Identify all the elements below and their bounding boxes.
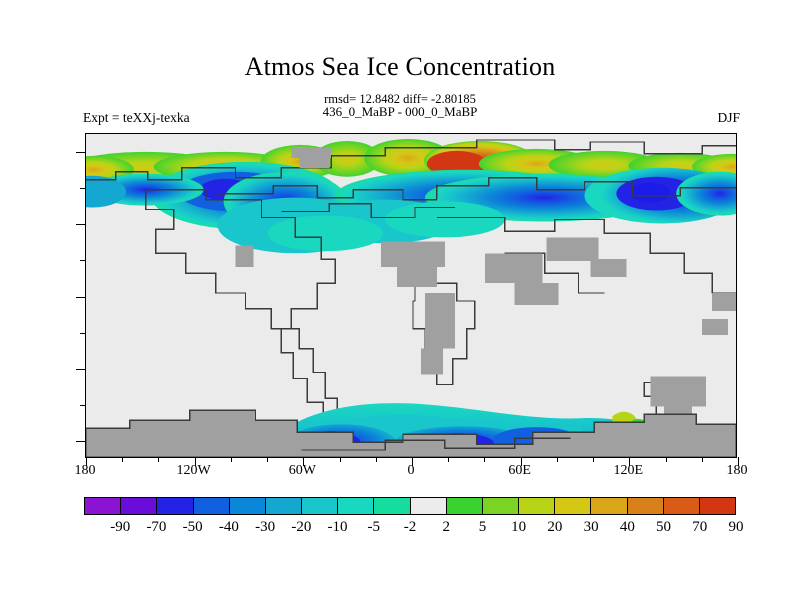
y-axis-tick (76, 441, 86, 442)
y-axis-minor-tick (80, 188, 86, 189)
colorbar-cell[interactable] (628, 498, 664, 514)
colorbar-cell[interactable] (411, 498, 447, 514)
x-axis-label: 60E (508, 463, 531, 479)
colorbar-tick-label: 40 (620, 519, 635, 536)
x-axis-minor-tick (593, 457, 594, 462)
colorbar-cell[interactable] (555, 498, 591, 514)
colorbar-tick-label: -20 (291, 519, 311, 536)
x-axis-minor-tick (267, 457, 268, 462)
x-axis-label: 120W (177, 463, 211, 479)
x-axis-label: 0 (408, 463, 415, 479)
colorbar-tick-label: -5 (368, 519, 381, 536)
colorbar-cell[interactable] (157, 498, 193, 514)
y-axis-minor-tick (80, 405, 86, 406)
y-axis-tick (76, 224, 86, 225)
colorbar-tick-label: -90 (110, 519, 130, 536)
x-axis-minor-tick (122, 457, 123, 462)
season-label: DJF (717, 110, 740, 126)
colorbar-tick-label: 90 (729, 519, 744, 536)
x-axis-minor-tick (340, 457, 341, 462)
colorbar-cell[interactable] (664, 498, 700, 514)
x-axis-minor-tick (484, 457, 485, 462)
colorbar-tick-label: 10 (511, 519, 526, 536)
colorbar-cell[interactable] (338, 498, 374, 514)
colorbar-tick-label: -40 (219, 519, 239, 536)
y-axis-tick (76, 297, 86, 298)
x-axis-label: 180 (727, 463, 748, 479)
colorbar-tick-label: -70 (146, 519, 166, 536)
colorbar-tick-label: -10 (328, 519, 348, 536)
colorbar-cell[interactable] (700, 498, 735, 514)
x-axis-minor-tick (376, 457, 377, 462)
colorbar-tick-label: -30 (255, 519, 275, 536)
colorbar-cell[interactable] (447, 498, 483, 514)
map-plot-panel[interactable] (85, 133, 737, 458)
sea-ice-anomaly-map (86, 134, 736, 457)
y-axis-minor-tick (80, 260, 86, 261)
colorbar[interactable] (84, 497, 736, 515)
x-axis-label: 120E (614, 463, 644, 479)
colorbar-cell[interactable] (374, 498, 410, 514)
colorbar-tick-label: 5 (479, 519, 487, 536)
colorbar-cell[interactable] (483, 498, 519, 514)
x-axis-minor-tick (231, 457, 232, 462)
x-axis-minor-tick (448, 457, 449, 462)
colorbar-cell[interactable] (194, 498, 230, 514)
y-axis-tick (76, 152, 86, 153)
y-axis-minor-tick (80, 333, 86, 334)
x-axis-label: 180 (75, 463, 96, 479)
x-axis-label: 60W (289, 463, 316, 479)
colorbar-tick-label: 20 (547, 519, 562, 536)
x-axis-minor-tick (557, 457, 558, 462)
colorbar-tick-label: 30 (584, 519, 599, 536)
y-axis-tick (76, 369, 86, 370)
colorbar-cell[interactable] (302, 498, 338, 514)
colorbar-tick-label: 70 (692, 519, 707, 536)
x-axis-minor-tick (702, 457, 703, 462)
colorbar-cell[interactable] (121, 498, 157, 514)
colorbar-tick-label: -50 (183, 519, 203, 536)
colorbar-cell[interactable] (519, 498, 555, 514)
colorbar-tick-label: 2 (442, 519, 450, 536)
colorbar-tick-label: -2 (404, 519, 417, 536)
x-axis-minor-tick (158, 457, 159, 462)
colorbar-cell[interactable] (266, 498, 302, 514)
experiment-label: Expt = teXXj-texka (83, 110, 190, 126)
x-axis-minor-tick (666, 457, 667, 462)
colorbar-cell[interactable] (230, 498, 266, 514)
colorbar-cell[interactable] (591, 498, 627, 514)
colorbar-tick-label: 50 (656, 519, 671, 536)
page-title: Atmos Sea Ice Concentration (0, 52, 800, 82)
colorbar-cell[interactable] (85, 498, 121, 514)
